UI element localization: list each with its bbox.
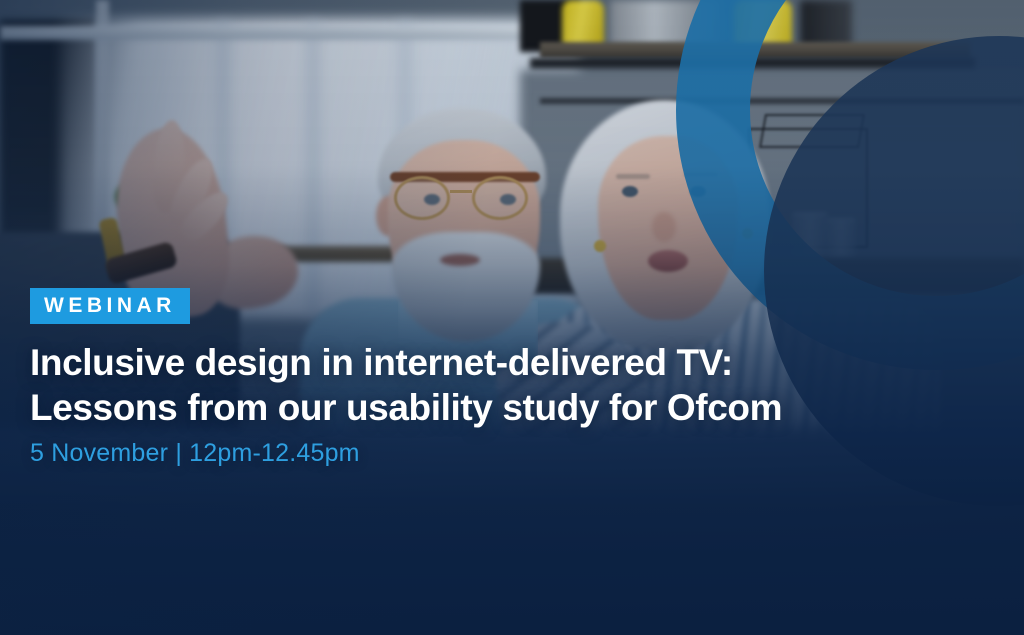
banner-content: WEBINAR Inclusive design in internet-del… (30, 288, 970, 468)
webinar-banner: WEBINAR Inclusive design in internet-del… (0, 0, 1024, 635)
page-title-line-2: Lessons from our usability study for Ofc… (30, 385, 970, 430)
page-title-line-1: Inclusive design in internet-delivered T… (30, 340, 970, 385)
date-time-text: 5 November | 12pm-12.45pm (30, 439, 970, 468)
webinar-badge: WEBINAR (30, 288, 190, 324)
page-title: Inclusive design in internet-delivered T… (30, 340, 970, 430)
